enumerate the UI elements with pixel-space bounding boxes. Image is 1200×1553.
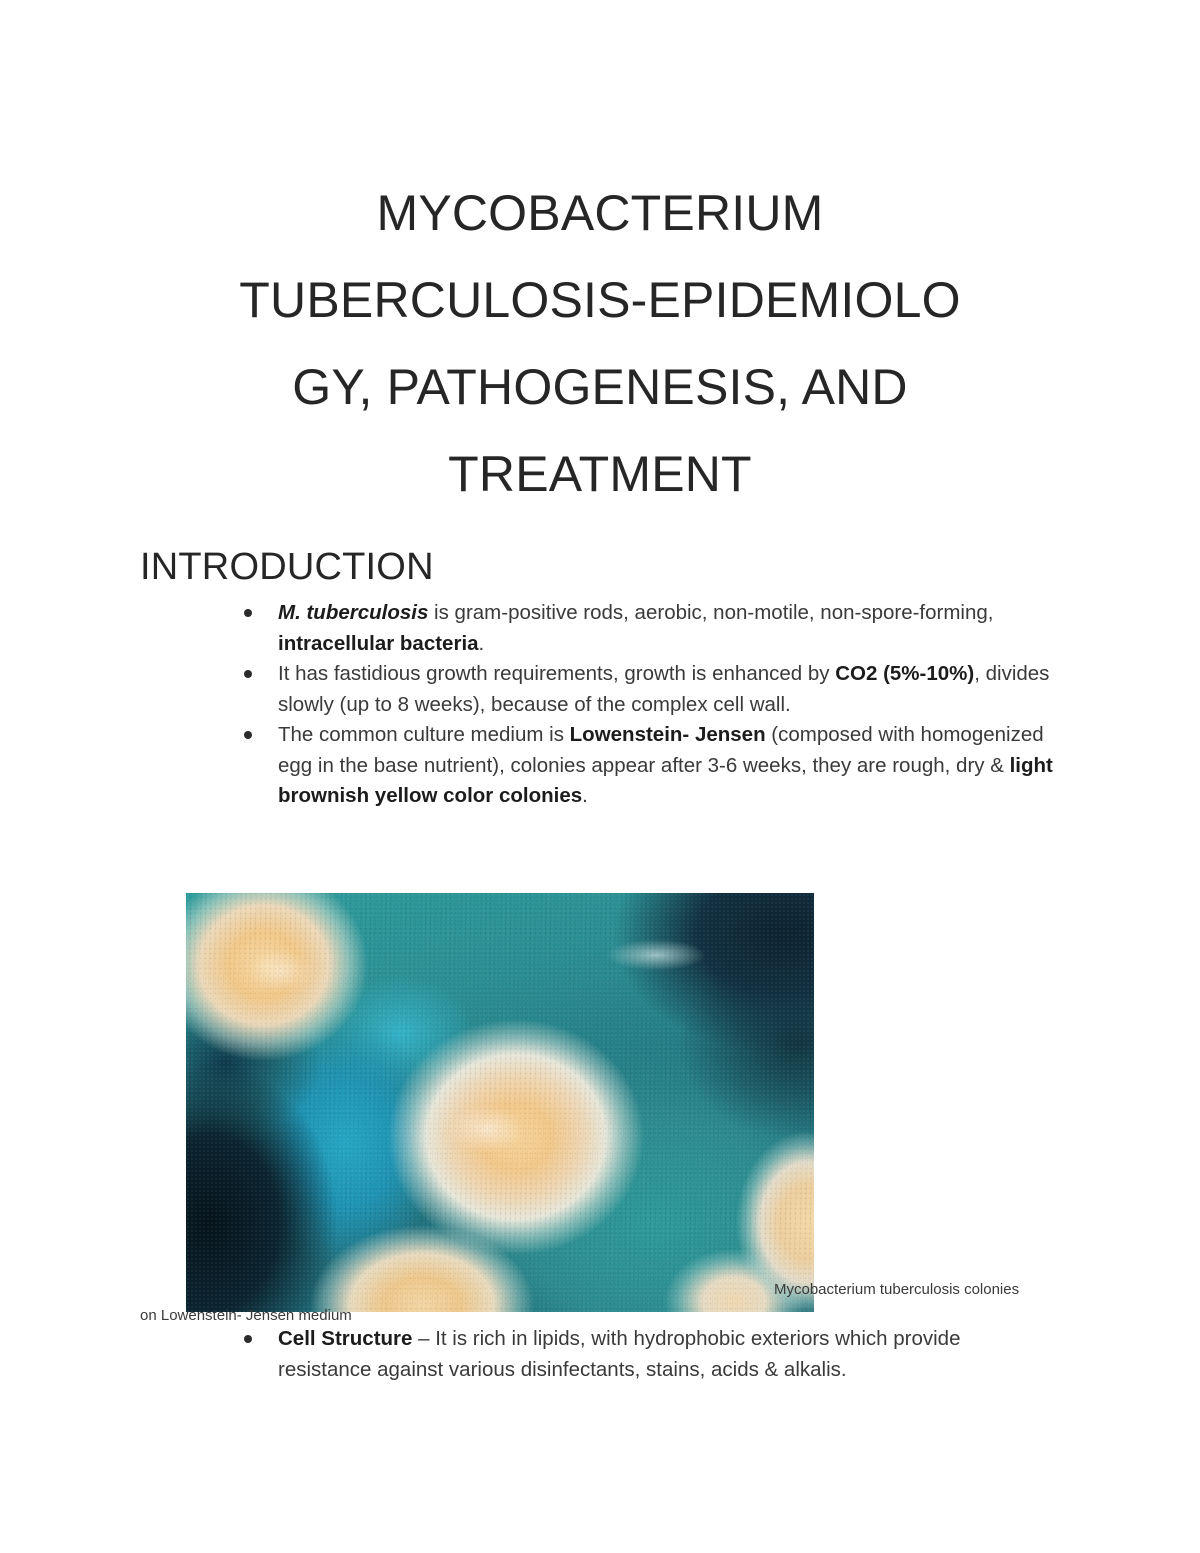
list-item: It has fastidious growth requirements, g… — [232, 659, 1056, 720]
list-item: M. tuberculosis is gram-positive rods, a… — [232, 598, 1056, 659]
organism-emphasis: intracellular bacteria — [278, 632, 479, 655]
growth-text-1: It has fastidious growth requirements, g… — [278, 662, 835, 685]
bullet-text-cell-structure: Cell Structure – It is rich in lipids, w… — [278, 1327, 960, 1381]
page-title: MYCOBACTERIUM TUBERCULOSIS-EPIDEMIOLO GY… — [145, 170, 1055, 518]
organism-name: M. tuberculosis — [278, 601, 428, 624]
bullet-text-medium: The common culture medium is Lowenstein-… — [278, 723, 1053, 807]
introduction-bullet-list: M. tuberculosis is gram-positive rods, a… — [232, 598, 1056, 812]
medium-emphasis-lj: Lowenstein- Jensen — [570, 723, 766, 746]
list-item: Cell Structure – It is rich in lipids, w… — [232, 1324, 1056, 1385]
bullet-dot-icon — [244, 670, 252, 678]
organism-text-1: is gram-positive rods, aerobic, non-moti… — [428, 601, 993, 624]
growth-emphasis-co2: CO2 (5%-10%) — [835, 662, 974, 685]
bullet-text-growth: It has fastidious growth requirements, g… — [278, 662, 1049, 716]
bullet-text-organism: M. tuberculosis is gram-positive rods, a… — [278, 601, 993, 655]
mycobacterium-colony-photo — [186, 893, 814, 1312]
organism-text-2: . — [479, 632, 485, 655]
list-item: The common culture medium is Lowenstein-… — [232, 720, 1056, 812]
document-page: MYCOBACTERIUM TUBERCULOSIS-EPIDEMIOLO GY… — [0, 0, 1200, 1553]
post-figure-bullet-list: Cell Structure – It is rich in lipids, w… — [232, 1324, 1056, 1385]
figure-caption-line-1: Mycobacterium tuberculosis colonies — [774, 1277, 1064, 1303]
bullet-dot-icon — [244, 1335, 252, 1343]
cell-structure-label: Cell Structure — [278, 1327, 412, 1350]
colony-photograph-figure — [186, 893, 814, 1312]
medium-text-1: The common culture medium is — [278, 723, 570, 746]
section-heading-introduction: INTRODUCTION — [140, 544, 434, 590]
bullet-dot-icon — [244, 609, 252, 617]
bullet-dot-icon — [244, 731, 252, 739]
medium-text-3: . — [582, 784, 588, 807]
